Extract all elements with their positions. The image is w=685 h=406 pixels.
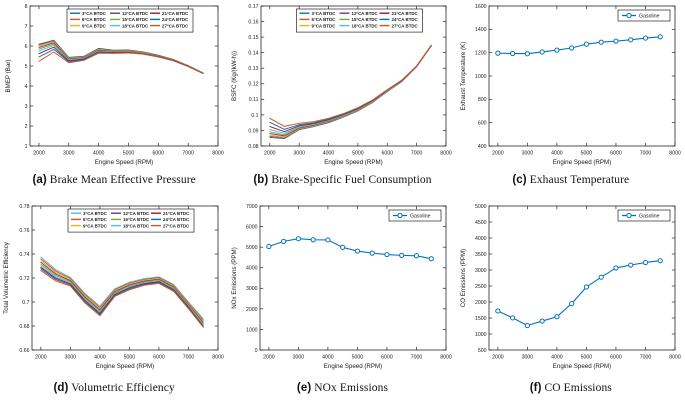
caption-f-text: CO Emissions xyxy=(545,382,612,394)
svg-text:4000: 4000 xyxy=(551,355,563,361)
svg-text:5000: 5000 xyxy=(246,245,258,251)
svg-text:2500: 2500 xyxy=(475,284,487,290)
svg-text:2: 2 xyxy=(25,124,28,130)
svg-text:7000: 7000 xyxy=(411,151,423,157)
svg-text:2000: 2000 xyxy=(263,355,275,361)
svg-text:3000: 3000 xyxy=(521,355,533,361)
svg-text:3000: 3000 xyxy=(293,355,305,361)
svg-text:4: 4 xyxy=(25,84,28,90)
svg-text:24°CA BTDC: 24°CA BTDC xyxy=(392,17,419,22)
svg-text:1000: 1000 xyxy=(246,327,258,333)
svg-text:24°CA BTDC: 24°CA BTDC xyxy=(162,17,189,22)
svg-text:7000: 7000 xyxy=(183,355,195,361)
svg-text:8: 8 xyxy=(25,4,28,10)
svg-text:0.08: 0.08 xyxy=(249,144,259,150)
svg-text:6000: 6000 xyxy=(153,151,165,157)
svg-text:2000: 2000 xyxy=(33,151,45,157)
svg-text:6000: 6000 xyxy=(610,151,622,157)
svg-text:7: 7 xyxy=(25,24,28,30)
subplot-c-plot: 2000300040005000600070008000400600800100… xyxy=(457,0,685,172)
svg-text:21°CA BTDC: 21°CA BTDC xyxy=(392,11,419,16)
svg-text:1000: 1000 xyxy=(475,332,487,338)
svg-text:0.09: 0.09 xyxy=(249,128,259,134)
svg-text:4000: 4000 xyxy=(94,355,106,361)
svg-text:0.78: 0.78 xyxy=(19,204,29,210)
subplot-f-plot: 2000300040005000600070008000500100015002… xyxy=(457,196,685,380)
svg-text:0.68: 0.68 xyxy=(19,324,29,330)
svg-text:Exhaust Temperature (K): Exhaust Temperature (K) xyxy=(460,42,467,111)
svg-text:18°CA BTDC: 18°CA BTDC xyxy=(122,23,149,28)
svg-text:0.76: 0.76 xyxy=(19,228,29,234)
caption-b: (b) Brake-Specific Fuel Consumption xyxy=(228,174,456,186)
svg-text:3°CA BTDC: 3°CA BTDC xyxy=(82,11,107,16)
chart-bmep: 200030004000500060007000800012345678Engi… xyxy=(0,0,228,172)
svg-text:8000: 8000 xyxy=(212,355,224,361)
svg-text:2000: 2000 xyxy=(492,151,504,157)
svg-text:2000: 2000 xyxy=(492,355,504,361)
svg-text:8000: 8000 xyxy=(669,151,681,157)
chart-bsfc: 20003000400050006000700080000.080.090.10… xyxy=(228,0,456,172)
svg-text:800: 800 xyxy=(478,97,487,103)
svg-text:4000: 4000 xyxy=(551,151,563,157)
caption-c-text: Exhaust Temperature xyxy=(530,174,630,186)
svg-text:12°CA BTDC: 12°CA BTDC xyxy=(352,11,379,16)
subplot-cell-c: 2000300040005000600070008000400600800100… xyxy=(457,0,685,196)
svg-text:5000: 5000 xyxy=(352,151,364,157)
svg-text:9°CA BTDC: 9°CA BTDC xyxy=(82,23,107,28)
svg-text:8000: 8000 xyxy=(669,355,681,361)
svg-text:6°CA BTDC: 6°CA BTDC xyxy=(83,217,108,222)
svg-text:7000: 7000 xyxy=(639,355,651,361)
svg-text:7000: 7000 xyxy=(639,151,651,157)
caption-b-tag: (b) xyxy=(253,174,268,186)
svg-text:15°CA BTDC: 15°CA BTDC xyxy=(123,217,150,222)
subplot-cell-f: 2000300040005000600070008000500100015002… xyxy=(457,196,685,406)
svg-text:2000: 2000 xyxy=(264,151,276,157)
caption-a-text: Brake Mean Effective Pressure xyxy=(50,174,196,186)
svg-text:7000: 7000 xyxy=(246,204,258,210)
subplot-e-plot: 2000300040005000600070008000010002000300… xyxy=(228,196,456,380)
svg-text:5000: 5000 xyxy=(124,355,136,361)
svg-text:1500: 1500 xyxy=(475,316,487,322)
subplot-b-plot: 20003000400050006000700080000.080.090.10… xyxy=(228,0,456,172)
svg-text:Total Volumetric Efficiency: Total Volumetric Efficiency xyxy=(3,241,10,314)
svg-text:5000: 5000 xyxy=(580,151,592,157)
svg-text:2000: 2000 xyxy=(35,355,47,361)
chart-co-emissions: 2000300040005000600070008000500100015002… xyxy=(457,196,685,380)
svg-text:3: 3 xyxy=(25,104,28,110)
svg-text:5000: 5000 xyxy=(580,355,592,361)
svg-text:BSFC (Kg/(kW-h)): BSFC (Kg/(kW-h)) xyxy=(231,51,238,101)
svg-text:Engine Speed (RPM): Engine Speed (RPM) xyxy=(552,363,610,370)
svg-text:8000: 8000 xyxy=(441,355,453,361)
svg-text:24°CA BTDC: 24°CA BTDC xyxy=(163,217,190,222)
svg-text:500: 500 xyxy=(478,348,487,354)
svg-text:0.15: 0.15 xyxy=(249,35,259,41)
svg-text:7000: 7000 xyxy=(411,355,423,361)
svg-text:2000: 2000 xyxy=(246,307,258,313)
svg-text:8000: 8000 xyxy=(212,151,224,157)
svg-text:6°CA BTDC: 6°CA BTDC xyxy=(82,17,107,22)
svg-text:0.72: 0.72 xyxy=(19,276,29,282)
figure-row-top: 200030004000500060007000800012345678Engi… xyxy=(0,0,685,196)
svg-text:21°CA BTDC: 21°CA BTDC xyxy=(162,11,189,16)
svg-text:9°CA BTDC: 9°CA BTDC xyxy=(83,223,108,228)
svg-text:4000: 4000 xyxy=(475,236,487,242)
svg-text:21°CA BTDC: 21°CA BTDC xyxy=(163,211,190,216)
svg-text:7000: 7000 xyxy=(182,151,194,157)
svg-text:NOx Emissions (PPM): NOx Emissions (PPM) xyxy=(231,247,238,309)
svg-text:4000: 4000 xyxy=(93,151,105,157)
svg-text:2000: 2000 xyxy=(475,300,487,306)
svg-text:12°CA BTDC: 12°CA BTDC xyxy=(123,211,150,216)
svg-text:3°CA BTDC: 3°CA BTDC xyxy=(312,11,337,16)
svg-text:1200: 1200 xyxy=(475,51,487,57)
subplot-a-plot: 200030004000500060007000800012345678Engi… xyxy=(0,0,228,172)
svg-text:8000: 8000 xyxy=(441,151,453,157)
svg-text:1400: 1400 xyxy=(475,27,487,33)
svg-text:3°CA BTDC: 3°CA BTDC xyxy=(83,211,108,216)
subplot-cell-a: 200030004000500060007000800012345678Engi… xyxy=(0,0,228,196)
svg-text:6000: 6000 xyxy=(610,355,622,361)
svg-text:4000: 4000 xyxy=(246,266,258,272)
svg-text:CO Emissions (PPM): CO Emissions (PPM) xyxy=(460,249,467,307)
svg-text:1: 1 xyxy=(25,144,28,150)
svg-text:27°CA BTDC: 27°CA BTDC xyxy=(162,23,189,28)
svg-text:0.13: 0.13 xyxy=(249,66,259,72)
svg-text:1600: 1600 xyxy=(475,4,487,10)
svg-text:4000: 4000 xyxy=(323,151,335,157)
svg-text:15°CA BTDC: 15°CA BTDC xyxy=(352,17,379,22)
svg-text:18°CA BTDC: 18°CA BTDC xyxy=(352,23,379,28)
chart-nox-emissions: 2000300040005000600070008000010002000300… xyxy=(228,196,456,380)
svg-text:400: 400 xyxy=(478,144,487,150)
svg-text:12°CA BTDC: 12°CA BTDC xyxy=(122,11,149,16)
svg-text:5000: 5000 xyxy=(352,355,364,361)
caption-d-text: Volumetric Efficiency xyxy=(71,382,175,394)
svg-text:0.14: 0.14 xyxy=(249,51,259,57)
subplot-cell-b: 20003000400050006000700080000.080.090.10… xyxy=(228,0,456,196)
svg-text:Engine Speed (RPM): Engine Speed (RPM) xyxy=(324,363,382,370)
svg-text:6: 6 xyxy=(25,44,28,50)
svg-text:27°CA BTDC: 27°CA BTDC xyxy=(163,223,190,228)
svg-text:3000: 3000 xyxy=(475,268,487,274)
svg-text:Gasoline: Gasoline xyxy=(639,13,660,19)
svg-text:0.1: 0.1 xyxy=(252,113,259,119)
svg-text:4500: 4500 xyxy=(475,220,487,226)
svg-text:4000: 4000 xyxy=(322,355,334,361)
svg-text:Engine Speed (RPM): Engine Speed (RPM) xyxy=(95,159,153,166)
svg-text:3000: 3000 xyxy=(521,151,533,157)
caption-d-tag: (d) xyxy=(54,382,69,394)
svg-text:6°CA BTDC: 6°CA BTDC xyxy=(312,17,337,22)
svg-text:3000: 3000 xyxy=(294,151,306,157)
caption-d: (d) Volumetric Efficiency xyxy=(0,382,228,394)
svg-text:1000: 1000 xyxy=(475,74,487,80)
svg-text:9°CA BTDC: 9°CA BTDC xyxy=(312,23,337,28)
subplot-d-plot: 20003000400050006000700080000.660.680.70… xyxy=(0,196,228,380)
svg-text:0.17: 0.17 xyxy=(249,4,259,10)
svg-text:Engine Speed (RPM): Engine Speed (RPM) xyxy=(96,363,154,370)
caption-c-tag: (c) xyxy=(512,174,526,186)
svg-text:0: 0 xyxy=(255,348,258,354)
svg-text:15°CA BTDC: 15°CA BTDC xyxy=(122,17,149,22)
svg-text:3000: 3000 xyxy=(246,286,258,292)
svg-text:0.66: 0.66 xyxy=(19,348,29,354)
svg-text:3000: 3000 xyxy=(63,151,75,157)
svg-text:Engine Speed (RPM): Engine Speed (RPM) xyxy=(552,159,610,166)
caption-f: (f) CO Emissions xyxy=(457,382,685,394)
svg-text:Gasoline: Gasoline xyxy=(639,213,660,219)
svg-text:600: 600 xyxy=(478,121,487,127)
engine-performance-figure: 200030004000500060007000800012345678Engi… xyxy=(0,0,685,406)
caption-e-text: NOx Emissions xyxy=(314,382,388,394)
svg-text:0.16: 0.16 xyxy=(249,19,259,25)
caption-e-tag: (e) xyxy=(297,382,311,394)
svg-text:6000: 6000 xyxy=(382,151,394,157)
subplot-cell-e: 2000300040005000600070008000010002000300… xyxy=(228,196,456,406)
chart-exhaust-temperature: 2000300040005000600070008000400600800100… xyxy=(457,0,685,172)
svg-text:0.11: 0.11 xyxy=(249,97,259,103)
svg-text:Gasoline: Gasoline xyxy=(410,213,431,219)
svg-text:6000: 6000 xyxy=(382,355,394,361)
svg-text:3000: 3000 xyxy=(65,355,77,361)
figure-row-bottom: 20003000400050006000700080000.660.680.70… xyxy=(0,196,685,406)
subplot-cell-d: 20003000400050006000700080000.660.680.70… xyxy=(0,196,228,406)
svg-text:3500: 3500 xyxy=(475,252,487,258)
svg-text:6000: 6000 xyxy=(153,355,165,361)
caption-c: (c) Exhaust Temperature xyxy=(457,174,685,186)
chart-volumetric-efficiency: 20003000400050006000700080000.660.680.70… xyxy=(0,196,228,380)
svg-text:BMEP (Bar): BMEP (Bar) xyxy=(5,60,12,93)
svg-text:0.7: 0.7 xyxy=(22,300,29,306)
caption-a: (a) Brake Mean Effective Pressure xyxy=(0,174,228,186)
svg-text:18°CA BTDC: 18°CA BTDC xyxy=(123,223,150,228)
svg-text:27°CA BTDC: 27°CA BTDC xyxy=(392,23,419,28)
caption-e: (e) NOx Emissions xyxy=(228,382,456,394)
svg-text:5: 5 xyxy=(25,64,28,70)
svg-text:5000: 5000 xyxy=(475,204,487,210)
svg-text:Engine Speed (RPM): Engine Speed (RPM) xyxy=(325,159,383,166)
svg-text:6000: 6000 xyxy=(246,224,258,230)
caption-a-tag: (a) xyxy=(32,174,46,186)
svg-text:0.12: 0.12 xyxy=(249,82,259,88)
svg-text:5000: 5000 xyxy=(123,151,135,157)
svg-text:0.74: 0.74 xyxy=(19,252,29,258)
caption-b-text: Brake-Specific Fuel Consumption xyxy=(271,174,431,186)
caption-f-tag: (f) xyxy=(530,382,542,394)
